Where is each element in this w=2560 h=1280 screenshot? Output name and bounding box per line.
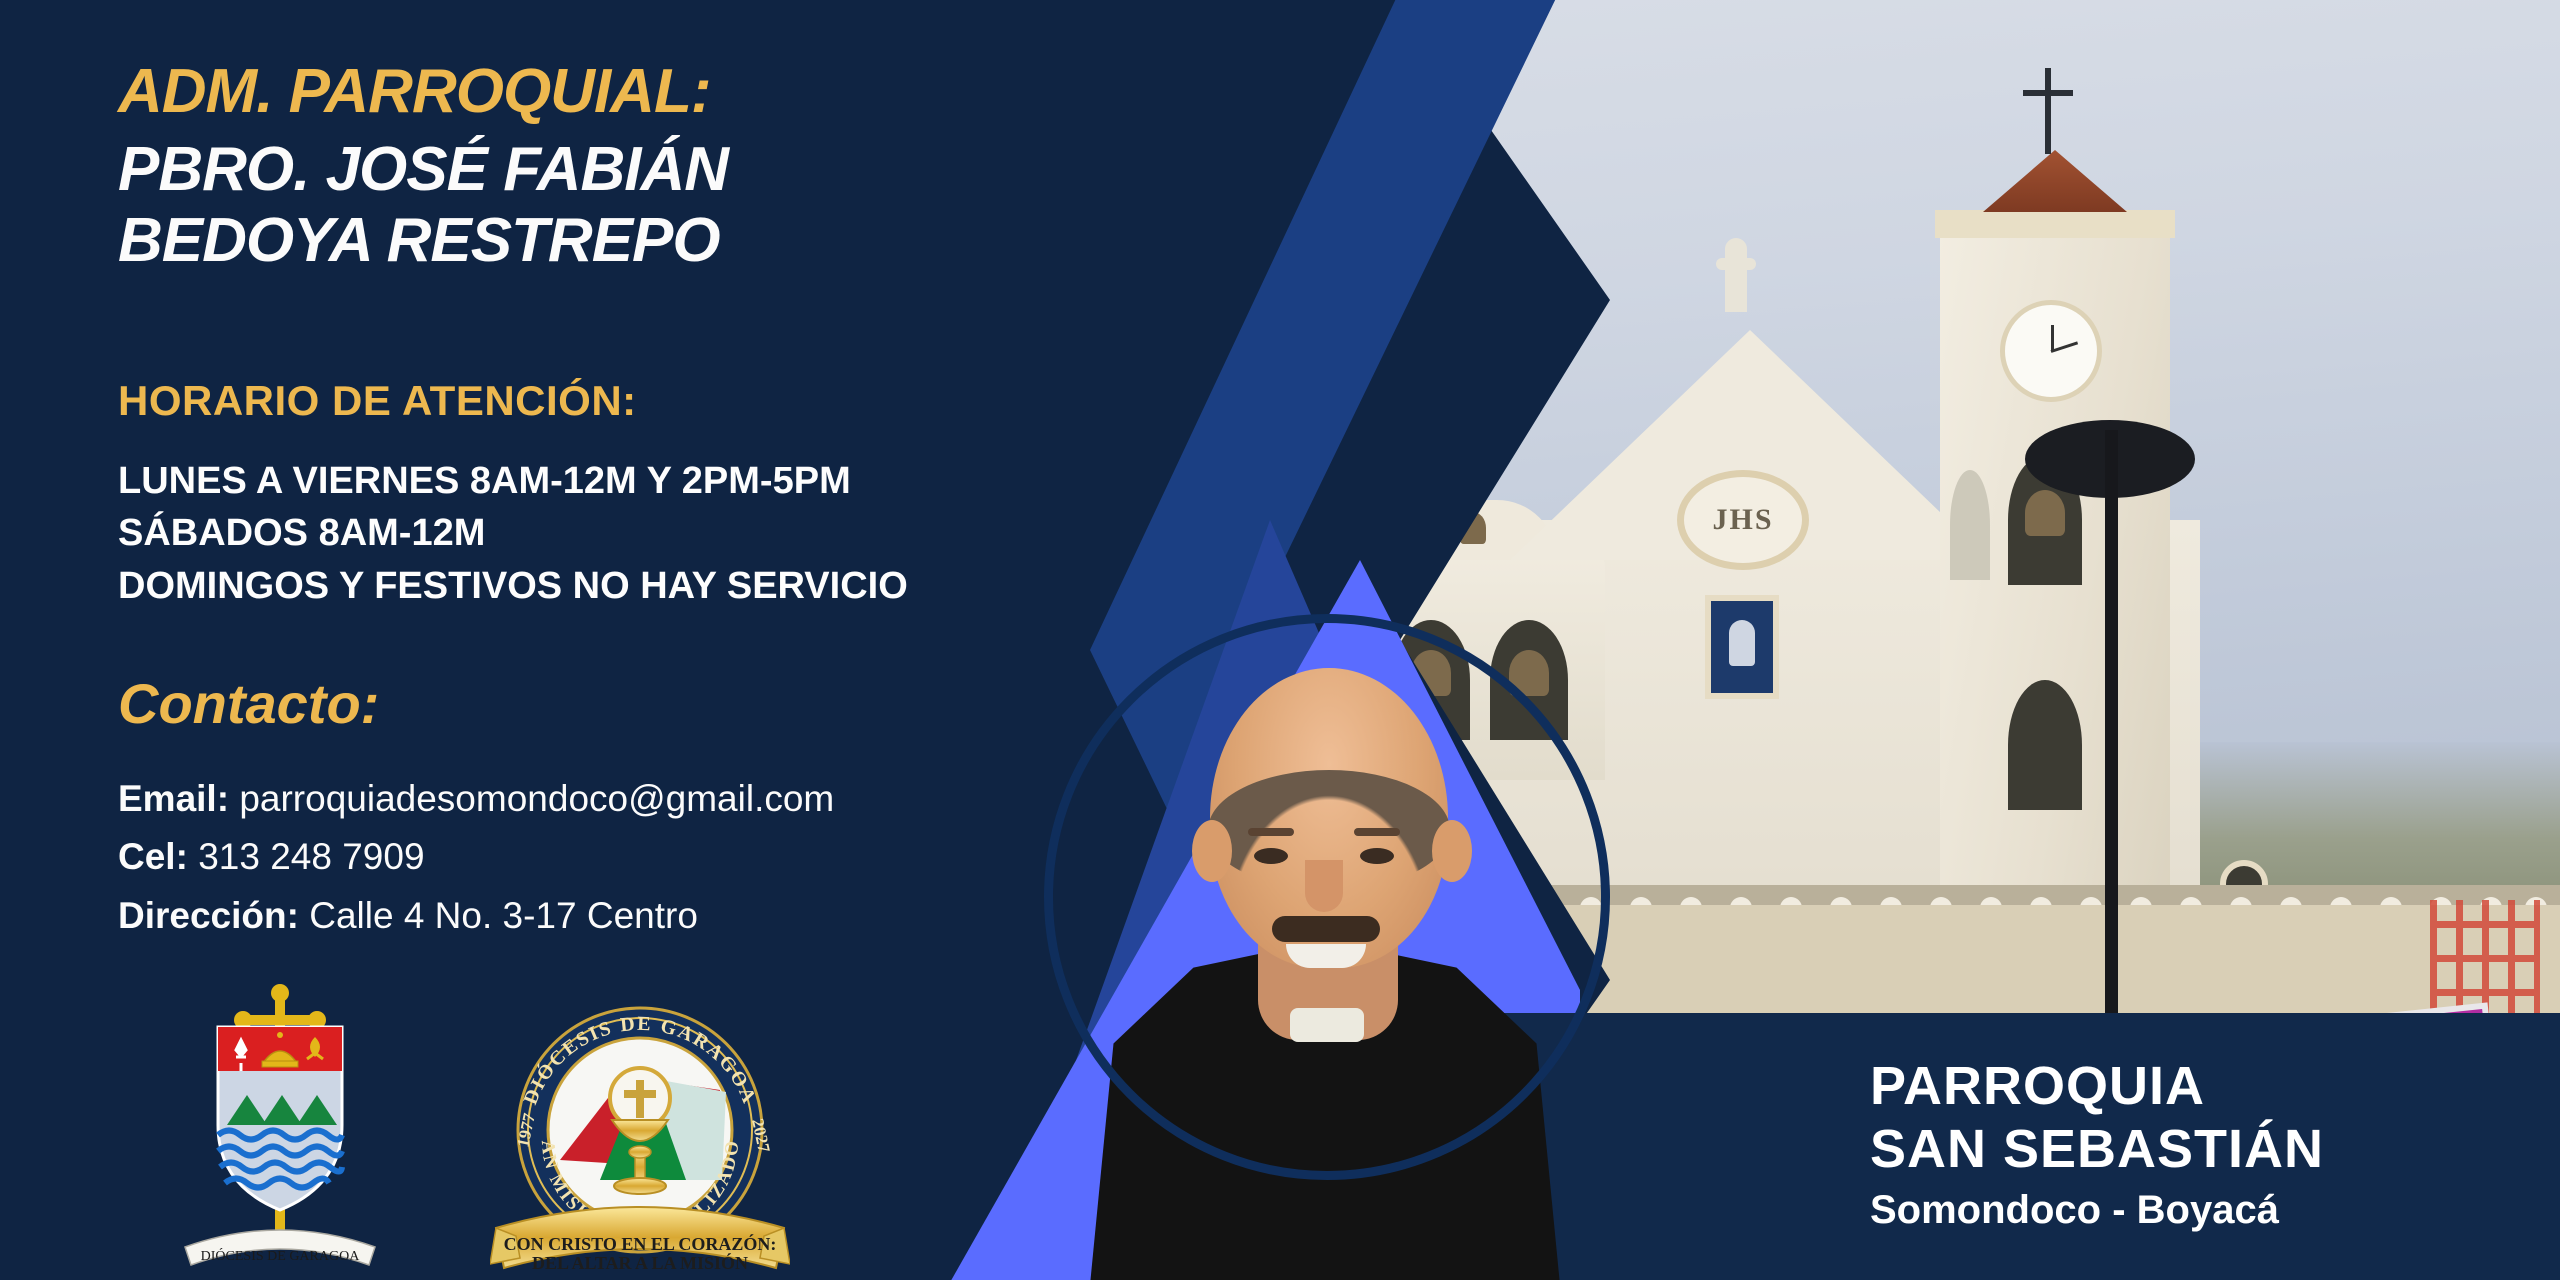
tower-pilaster xyxy=(1950,470,1990,580)
contact-address-value: Calle 4 No. 3-17 Centro xyxy=(309,895,698,936)
seal-ribbon-line1: CON CRISTO EN EL CORAZÓN: xyxy=(504,1233,777,1254)
contact-email-row: Email: parroquiadesomondoco@gmail.com xyxy=(118,770,834,828)
parish-line1: PARROQUIA xyxy=(1870,1055,2324,1118)
facade-niche xyxy=(1705,595,1779,699)
tower-cap xyxy=(1935,210,2175,238)
seal-ribbon-line2: DEL ALTAR A LA MISIÓN xyxy=(532,1252,748,1273)
schedule-heading: HORARIO DE ATENCIÓN: xyxy=(118,380,637,422)
priest-eye-right xyxy=(1360,848,1394,864)
priest-name-line2: BEDOYA RESTREPO xyxy=(118,206,728,277)
priest-ear-left xyxy=(1192,820,1232,882)
parish-identity: PARROQUIA SAN SEBASTIÁN Somondoco - Boya… xyxy=(1870,1055,2324,1240)
role-label: ADM. PARROQUIAL: xyxy=(118,60,710,124)
contact-address-row: Dirección: Calle 4 No. 3-17 Centro xyxy=(118,887,834,945)
tower-bell-icon xyxy=(2025,490,2065,536)
priest-nose xyxy=(1305,860,1343,912)
tower-clock xyxy=(2000,300,2102,402)
priest-brow-left xyxy=(1248,828,1294,836)
priest-mouth xyxy=(1286,944,1366,968)
schedule-line: SÁBADOS 8AM-12M xyxy=(118,507,908,559)
parish-line2: SAN SEBASTIÁN xyxy=(1870,1118,2324,1181)
schedule-line: DOMINGOS Y FESTIVOS NO HAY SERVICIO xyxy=(118,560,908,612)
coat-of-arms-ribbon-text: DIÓCESIS DE GARAGOA xyxy=(201,1247,361,1264)
contact-list: Email: parroquiadesomondoco@gmail.com Ce… xyxy=(118,770,834,945)
priest-moustache xyxy=(1272,916,1380,942)
contact-email-label: Email: xyxy=(118,778,229,819)
banner-canvas: JHS xyxy=(0,0,2560,1280)
left-text-panel: ADM. PARROQUIAL: PBRO. JOSÉ FABIÁN BEDOY… xyxy=(0,0,1180,1280)
schedule-lines: LUNES A VIERNES 8AM-12M Y 2PM-5PM SÁBADO… xyxy=(118,455,908,612)
jhs-medallion: JHS xyxy=(1677,470,1809,570)
priest-name: PBRO. JOSÉ FABIÁN BEDOYA RESTREPO xyxy=(118,135,728,276)
tower-cross-icon xyxy=(2045,68,2051,154)
priest-brow-right xyxy=(1354,828,1400,836)
contact-heading: Contacto: xyxy=(118,676,379,732)
gran-mision-seal: DIÓCESIS DE GARAGOA GRAN MISIÓN EVANGELI… xyxy=(490,980,790,1280)
contact-email-value[interactable]: parroquiadesomondoco@gmail.com xyxy=(239,778,834,819)
street-lamp-pole xyxy=(2105,430,2118,1090)
roman-collar xyxy=(1290,1008,1364,1042)
priest-eye-left xyxy=(1254,848,1288,864)
priest-ear-right xyxy=(1432,820,1472,882)
tower-arch-lower xyxy=(2008,680,2082,810)
statue xyxy=(1725,238,1747,312)
contact-address-label: Dirección: xyxy=(118,895,299,936)
contact-phone-label: Cel: xyxy=(118,836,188,877)
contact-phone-row: Cel: 313 248 7909 xyxy=(118,828,834,886)
schedule-line: LUNES A VIERNES 8AM-12M Y 2PM-5PM xyxy=(118,455,908,507)
priest-name-line1: PBRO. JOSÉ FABIÁN xyxy=(118,135,728,206)
parish-location: Somondoco - Boyacá xyxy=(1870,1180,2324,1240)
bell-icon xyxy=(1509,650,1549,696)
contact-phone-value[interactable]: 313 248 7909 xyxy=(198,836,424,877)
diocese-coat-of-arms: DIÓCESIS DE GARAGOA xyxy=(155,975,405,1275)
